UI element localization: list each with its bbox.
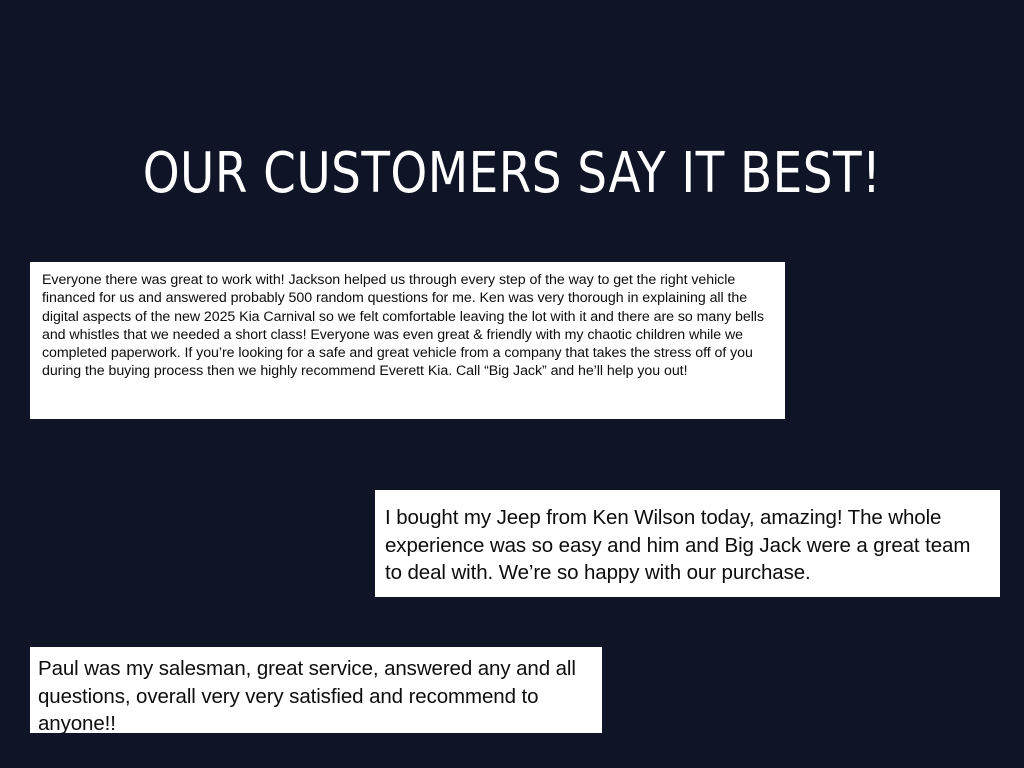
testimonial-text-1: Everyone there was great to work with! J…	[42, 271, 774, 381]
testimonial-card-3: Paul was my salesman, great service, ans…	[30, 647, 602, 733]
slide-canvas: OUR CUSTOMERS SAY IT BEST! Everyone ther…	[0, 0, 1024, 768]
testimonial-text-2: I bought my Jeep from Ken Wilson today, …	[385, 504, 986, 587]
testimonial-text-3: Paul was my salesman, great service, ans…	[38, 655, 590, 733]
page-title: OUR CUSTOMERS SAY IT BEST!	[36, 142, 988, 206]
testimonial-card-1: Everyone there was great to work with! J…	[30, 262, 785, 419]
testimonial-card-2: I bought my Jeep from Ken Wilson today, …	[375, 490, 1000, 597]
